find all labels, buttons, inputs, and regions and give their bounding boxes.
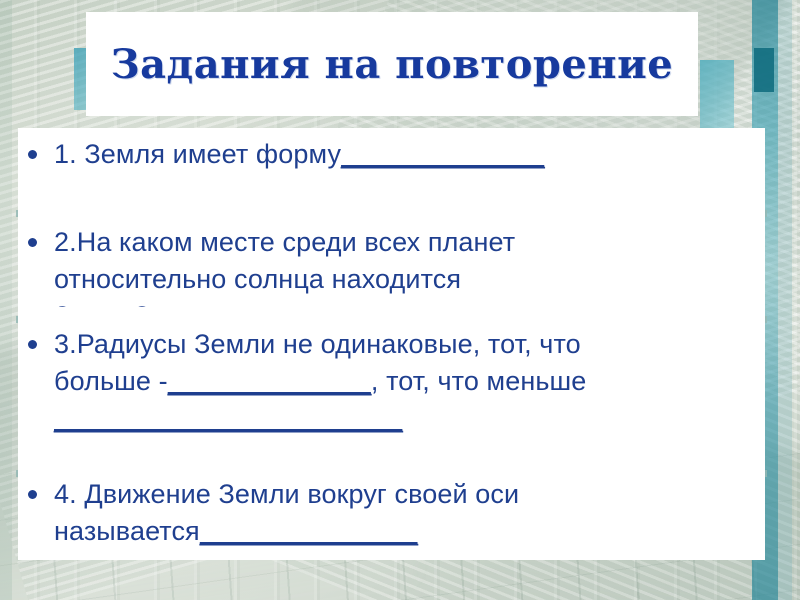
question-3-line-3: ________________________ bbox=[54, 400, 758, 437]
question-4-line-2-prefix: называется bbox=[54, 516, 200, 546]
content-box: 1. Земля имеет форму______________ 2.На … bbox=[18, 128, 765, 560]
title-box: Задания на повторение bbox=[86, 12, 698, 116]
list-item-q3: 3.Радиусы Земли не одинаковые, тот, что … bbox=[28, 326, 758, 437]
question-1-line-1: 1. Земля имеет форму bbox=[54, 139, 341, 169]
question-4-line-2: называется_______________ bbox=[54, 513, 758, 550]
bullet-dot-icon bbox=[28, 150, 37, 159]
slide-root: Задания на повторение 1. Земля имеет фор… bbox=[0, 0, 800, 600]
question-3-blank-1: ______________ bbox=[168, 366, 371, 396]
question-4-line-1: 4. Движение Земли вокруг своей оси bbox=[54, 476, 758, 513]
bullet-row: 4. Движение Земли вокруг своей оси назыв… bbox=[28, 476, 758, 550]
question-1-blank-1: ______________ bbox=[341, 139, 544, 169]
question-4-blank-1: _______________ bbox=[200, 516, 418, 546]
question-2-clipped-line: Земля? bbox=[54, 298, 758, 307]
list-item-q4: 4. Движение Земли вокруг своей оси назыв… bbox=[28, 476, 758, 550]
accent-right-teal-bar-outer bbox=[778, 0, 792, 600]
list-item-q2: 2.На каком месте среди всех планет относ… bbox=[28, 224, 758, 307]
accent-left-edge-strip bbox=[0, 0, 12, 600]
bullet-row: 1. Земля имеет форму______________ bbox=[28, 136, 758, 173]
question-3-line-2-suffix: , тот, что меньше bbox=[371, 366, 586, 396]
accent-top-right-square bbox=[754, 48, 774, 92]
question-2-line-1: 2.На каком месте среди всех планет bbox=[54, 224, 758, 261]
question-2-line-2: относительно солнца находится bbox=[54, 261, 758, 298]
bullet-dot-icon bbox=[28, 490, 37, 499]
accent-title-right-block bbox=[700, 60, 734, 138]
question-3-line-2: больше -______________, тот, что меньше bbox=[54, 363, 758, 400]
bullet-dot-icon bbox=[28, 238, 37, 247]
question-1-text: 1. Земля имеет форму______________ bbox=[54, 136, 758, 173]
bullet-dot-icon bbox=[28, 340, 37, 349]
list-item-q1: 1. Земля имеет форму______________ bbox=[28, 136, 758, 173]
question-3-blank-2: ________________________ bbox=[54, 403, 402, 433]
question-2-text: 2.На каком месте среди всех планет относ… bbox=[54, 224, 758, 298]
bullet-row: 3.Радиусы Земли не одинаковые, тот, что … bbox=[28, 326, 758, 437]
question-3-line-2-prefix: больше - bbox=[54, 366, 168, 396]
page-title: Задания на повторение bbox=[86, 12, 698, 116]
bullet-row: 2.На каком месте среди всех планет относ… bbox=[28, 224, 758, 298]
question-3-text: 3.Радиусы Земли не одинаковые, тот, что … bbox=[54, 326, 758, 437]
question-3-line-1: 3.Радиусы Земли не одинаковые, тот, что bbox=[54, 326, 758, 363]
question-2-line-3: Земля? bbox=[54, 298, 758, 307]
question-4-text: 4. Движение Земли вокруг своей оси назыв… bbox=[54, 476, 758, 550]
